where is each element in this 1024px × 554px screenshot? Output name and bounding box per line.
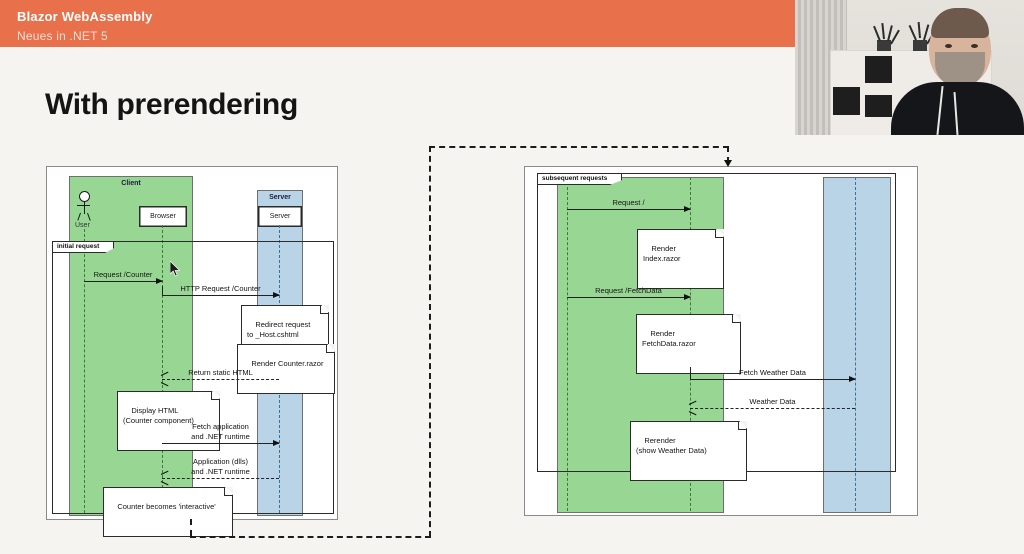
left-note-counter-interactive-text: Counter becomes 'interactive' [117, 502, 215, 511]
right-message-request-root-label: Request / [567, 198, 690, 208]
left-actor-user-label: User [75, 222, 90, 229]
right-message-weather-data-label: Weather Data [690, 397, 855, 407]
webcam-shelf-cube [865, 95, 892, 117]
webcam-shelf-cube [833, 87, 860, 115]
left-fragment-label: initial request [53, 242, 114, 253]
note-fold-icon [732, 314, 741, 323]
right-message-request-fetchdata-label: Request /FetchData [567, 286, 690, 296]
webcam-person-eye [945, 44, 952, 48]
left-message-fetch-application-label: Fetch application and .NET runtime [162, 422, 279, 441]
note-fold-icon [320, 305, 329, 314]
left-note-display-html: Display HTML (Counter component) [117, 391, 220, 451]
note-fold-icon [211, 391, 220, 400]
right-message-fetch-weather-data-label: Fetch Weather Data [690, 368, 855, 378]
left-client-lane-title: Client [70, 180, 192, 187]
left-note-counter-interactive: Counter becomes 'interactive' [103, 487, 233, 537]
left-message-return-static-html-label: Return static HTML [162, 368, 279, 378]
left-participant-browser: Browser [139, 206, 187, 227]
right-note-rerender: Rerender (show Weather Data) [630, 421, 747, 481]
right-diagram-frame: subsequent requests Request / Render Ind… [524, 166, 918, 516]
right-note-render-fetchdata: Render FetchData.razor [636, 314, 741, 374]
left-server-lane-title: Server [258, 194, 302, 201]
note-fold-icon [326, 344, 335, 353]
left-participant-server: Server [258, 206, 302, 227]
left-note-redirect-text: Redirect request to _Host.cshtml [247, 320, 310, 339]
left-message-application-dlls-label: Application (dlls) and .NET runtime [162, 457, 279, 476]
note-fold-icon [738, 421, 747, 430]
note-fold-icon [715, 229, 724, 238]
right-fragment-label: subsequent requests [538, 174, 622, 185]
left-message-request-counter-label: Request /Counter [84, 270, 162, 280]
header-subtitle: Neues in .NET 5 [17, 29, 108, 43]
right-note-render-fetchdata-text: Render FetchData.razor [642, 329, 696, 348]
presenter-webcam-overlay [795, 0, 1024, 135]
note-fold-icon [224, 487, 233, 496]
header-title: Blazor WebAssembly [17, 9, 153, 24]
webcam-person-eye [971, 44, 978, 48]
mouse-pointer [170, 261, 181, 277]
left-message-http-request-counter-label: HTTP Request /Counter [162, 284, 279, 294]
left-diagram-frame: Client Server User Browser Server initia… [46, 166, 338, 520]
webcam-shelf-cube [865, 56, 892, 83]
right-note-rerender-text: Rerender (show Weather Data) [636, 436, 707, 455]
page-title: With prerendering [45, 88, 298, 122]
right-note-render-index: Render Index.razor [637, 229, 724, 289]
right-note-render-index-text: Render Index.razor [643, 244, 681, 263]
connector-arrowhead-icon [724, 160, 732, 167]
